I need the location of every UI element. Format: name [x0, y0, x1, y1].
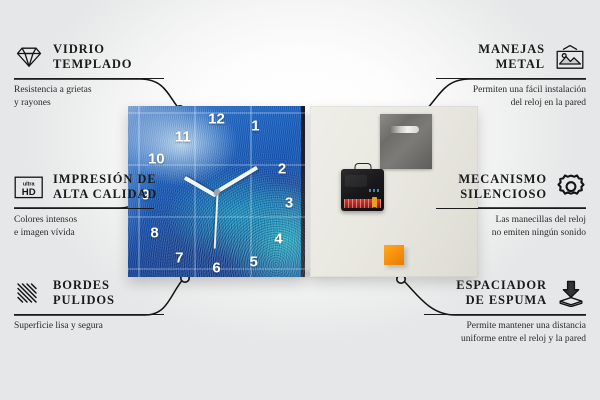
clock-numeral-3: 3: [285, 196, 293, 211]
callout-rule: [14, 208, 154, 209]
callout-header: ultra HD IMPRESIÓN DE ALTA CALIDAD: [14, 172, 154, 203]
callout-description: Resistencia a grietas y rayones: [14, 84, 164, 109]
clock-numeral-10: 10: [148, 152, 165, 167]
clock-numeral-11: 11: [175, 129, 191, 144]
callout-title: IMPRESIÓN DE ALTA CALIDAD: [53, 172, 157, 203]
callout-rule: [424, 314, 586, 315]
polished-edge-icon: [14, 281, 44, 305]
callout-title: VIDRIO TEMPLADO: [53, 42, 132, 73]
callout-manejas-metal: MANEJAS METAL Permiten una fácil instala…: [436, 42, 586, 109]
callout-header: VIDRIO TEMPLADO: [14, 42, 164, 73]
mechanism-hook: [354, 163, 371, 173]
mechanism-detail: [345, 175, 367, 187]
ultra-hd-icon: ultra HD: [14, 175, 44, 200]
callout-title: MANEJAS METAL: [478, 42, 545, 73]
clock-hour-hand: [183, 176, 216, 197]
clock-numeral-6: 6: [212, 261, 220, 276]
battery-terminal: [372, 197, 377, 207]
callout-description: Las manecillas del reloj no emiten ningú…: [436, 214, 586, 239]
clock-second-hand: [214, 192, 219, 248]
callout-mecanismo-silencioso: MECANISMO SILENCIOSO Las manecillas del …: [436, 172, 586, 239]
diamond-icon: [14, 45, 44, 69]
aa-battery: [344, 199, 381, 208]
callout-bordes-pulidos: BORDES PULIDOS Superficie lisa y segura: [14, 278, 164, 333]
callout-description: Permite mantener una distancia uniforme …: [424, 320, 586, 345]
callout-header: BORDES PULIDOS: [14, 278, 164, 309]
clock-numeral-1: 1: [251, 119, 259, 134]
foam-spacer-pad: [384, 245, 404, 265]
foam-spacer-icon: [556, 280, 586, 307]
callout-header: MANEJAS METAL: [436, 42, 586, 73]
callout-rule: [436, 208, 586, 209]
callout-description: Superficie lisa y segura: [14, 320, 164, 333]
svg-text:HD: HD: [22, 187, 36, 198]
gear-icon: [556, 173, 586, 201]
clock-numeral-7: 7: [175, 251, 183, 266]
callout-vidrio-templado: VIDRIO TEMPLADO Resistencia a grietas y …: [14, 42, 164, 109]
callout-header: MECANISMO SILENCIOSO: [436, 172, 586, 203]
clock-numeral-5: 5: [249, 254, 257, 269]
callout-title: MECANISMO SILENCIOSO: [458, 172, 547, 203]
callout-impresion-alta-calidad: ultra HD IMPRESIÓN DE ALTA CALIDAD Color…: [14, 172, 154, 239]
wall-frame-hanger-icon: [554, 44, 586, 70]
clock-numeral-12: 12: [208, 112, 225, 127]
clock-minute-hand: [214, 165, 257, 193]
callout-header: ESPACIADOR DE ESPUMA: [424, 278, 586, 309]
mechanism-dots: [369, 189, 380, 192]
callout-description: Colores intensos e imagen vívida: [14, 214, 154, 239]
product-image: 12 1 2 3 4 5 6 7 8 9 10 11: [128, 106, 478, 277]
clock-center-cap: [214, 189, 220, 195]
hanger-slot: [389, 126, 419, 133]
callout-rule: [14, 78, 164, 79]
callout-espaciador-de-espuma: ESPACIADOR DE ESPUMA Permite mantener un…: [424, 278, 586, 345]
callout-rule: [14, 314, 164, 315]
clock-numeral-4: 4: [274, 232, 282, 247]
callout-description: Permiten una fácil instalación del reloj…: [436, 84, 586, 109]
callout-title: ESPACIADOR DE ESPUMA: [456, 278, 547, 309]
callout-rule: [436, 78, 586, 79]
clock-numeral-2: 2: [278, 162, 286, 177]
metal-hanger-plate: [380, 114, 432, 169]
callout-title: BORDES PULIDOS: [53, 278, 115, 309]
infographic-canvas: 12 1 2 3 4 5 6 7 8 9 10 11: [0, 0, 600, 400]
clock-mechanism-box: [341, 169, 384, 211]
